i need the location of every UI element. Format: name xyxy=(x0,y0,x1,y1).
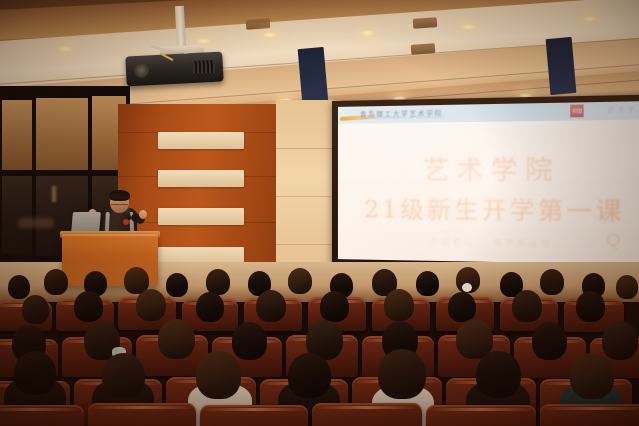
auditorium-seat-front xyxy=(540,404,639,426)
wall-plaque xyxy=(158,170,244,187)
audience-head xyxy=(448,292,476,322)
window-light-reflection xyxy=(52,186,56,202)
eyeglasses-icon xyxy=(111,199,128,205)
audience-head xyxy=(196,292,224,322)
wall-plaque xyxy=(158,208,244,225)
auditorium-seat-front xyxy=(312,403,422,426)
audience-head xyxy=(320,291,349,322)
slide-subtitle: 不忘初心 · 筑梦新征程 xyxy=(338,235,639,251)
audience-head xyxy=(288,268,312,294)
projector-lens-icon xyxy=(134,62,150,78)
ceiling-downlight xyxy=(461,24,476,30)
audience-head xyxy=(232,322,267,360)
banner-institution-name-en: QINGDAO UNIVERSITY OF TECHNOLOGY xyxy=(360,115,446,120)
audience-head xyxy=(576,291,605,322)
audience-head xyxy=(602,321,638,360)
projection-screen: 青岛理工大学艺术学院 QINGDAO UNIVERSITY OF TECHNOL… xyxy=(338,101,639,265)
ceiling-accent-strip xyxy=(298,47,329,105)
audience-head xyxy=(22,295,49,324)
speaker-right-hand xyxy=(139,210,147,219)
ceiling-downlight xyxy=(582,16,597,22)
audience-head xyxy=(14,351,56,395)
laptop-display xyxy=(71,212,101,233)
ceiling-vent xyxy=(246,18,271,30)
audience-head xyxy=(256,290,286,322)
audience-head xyxy=(8,275,30,299)
audience-head xyxy=(44,269,68,295)
window-pane xyxy=(36,98,88,170)
audience-head xyxy=(196,351,241,399)
slide-title-line2: 21级新生开学第一课 xyxy=(338,190,639,227)
audience-head-long-hair xyxy=(378,349,426,399)
logo-text: 校徽 xyxy=(572,107,582,115)
audience-head xyxy=(74,291,103,322)
window-pane xyxy=(2,176,32,254)
slide-decor-mark: Q xyxy=(606,230,621,252)
auditorium-seat-front xyxy=(0,405,84,426)
audience-head xyxy=(384,289,414,321)
auditorium-seat-front xyxy=(200,405,308,426)
ceiling-projector xyxy=(125,51,223,86)
audience-head xyxy=(416,271,439,296)
audience-head xyxy=(136,289,166,321)
slide-banner: 青岛理工大学艺术学院 QINGDAO UNIVERSITY OF TECHNOL… xyxy=(338,101,639,124)
hair-tie xyxy=(462,283,472,292)
university-logo-icon: 校徽 xyxy=(570,104,583,117)
wall-plaque xyxy=(158,132,244,149)
ceiling-downlight xyxy=(262,32,277,38)
audience-head xyxy=(166,273,188,297)
ceiling-accent-strip xyxy=(546,37,577,95)
auditorium-seat-front xyxy=(426,405,536,426)
audience-head xyxy=(532,322,567,360)
banner-right-text: 艺术学院 xyxy=(607,104,639,114)
audience-head xyxy=(616,275,638,299)
audience-head xyxy=(158,319,195,359)
audience-head xyxy=(512,290,542,322)
auditorium-seat-front xyxy=(88,403,196,426)
audience-head xyxy=(540,269,564,295)
projector-vent xyxy=(193,60,216,74)
audience-head xyxy=(570,353,614,399)
window-reflection xyxy=(18,218,54,228)
window-pane xyxy=(2,100,32,170)
audience-head xyxy=(288,353,331,398)
audience-head xyxy=(102,353,145,398)
lecture-hall-photo: 青岛理工大学艺术学院 QINGDAO UNIVERSITY OF TECHNOL… xyxy=(0,0,639,426)
ceiling-vent xyxy=(411,43,436,55)
projection-screen-frame: 青岛理工大学艺术学院 QINGDAO UNIVERSITY OF TECHNOL… xyxy=(332,94,639,272)
ceiling-vent xyxy=(413,17,438,29)
audience-seating xyxy=(0,255,639,426)
ceiling-downlight xyxy=(196,38,211,44)
slide-title-line1: 艺术学院 xyxy=(338,148,639,187)
audience-head xyxy=(476,351,521,398)
ceiling-downlight xyxy=(58,46,73,52)
ceiling-downlight xyxy=(360,30,375,36)
